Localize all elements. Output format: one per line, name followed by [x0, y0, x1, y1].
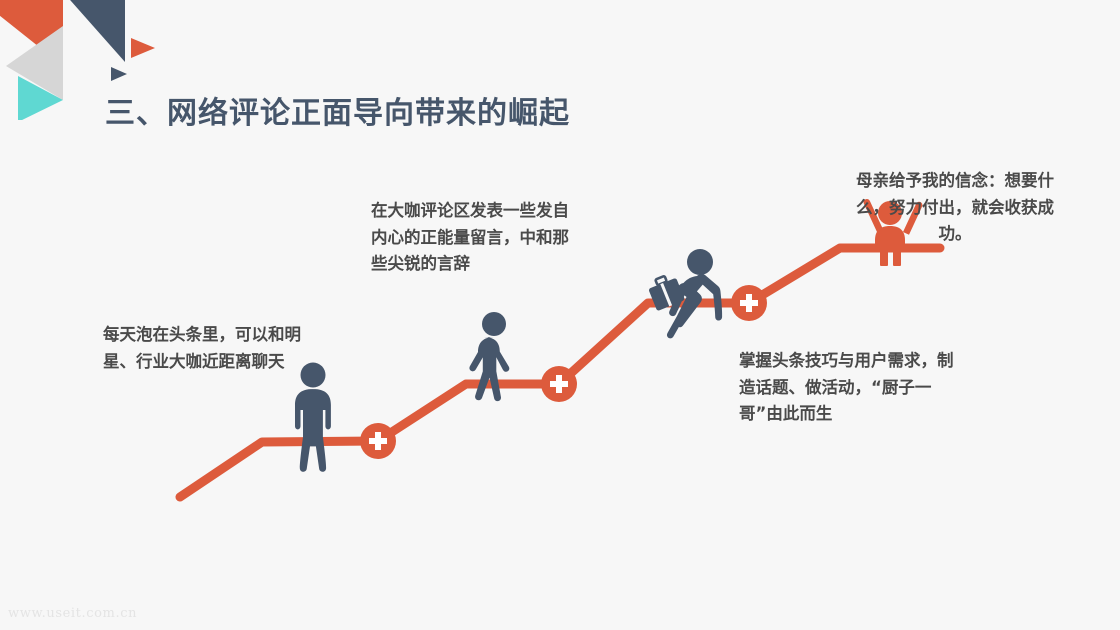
- step-caption-1: 每天泡在头条里，可以和明星、行业大咖近距离聊天: [103, 322, 318, 375]
- step-marker-2[interactable]: [541, 366, 577, 402]
- figure-climbing-person-with-briefcase: [646, 249, 722, 338]
- step-caption-4: 母亲给予我的信念：想要什么，努力付出，就会收获成功。: [855, 168, 1055, 248]
- step-caption-2: 在大咖评论区发表一些发自内心的正能量留言，中和那些尖锐的言辞: [371, 198, 576, 278]
- step-caption-3: 掌握头条技巧与用户需求，制造话题、做活动，“厨子一哥”由此而生: [739, 348, 954, 428]
- step-marker-1[interactable]: [360, 423, 396, 459]
- staircase-graphic: [0, 0, 1120, 630]
- slide-canvas: 三、网络评论正面导向带来的崛起: [0, 0, 1120, 630]
- watermark: www.useit.com.cn: [8, 606, 137, 621]
- step-marker-3[interactable]: [731, 285, 767, 321]
- figure-standing-person: [295, 363, 331, 472]
